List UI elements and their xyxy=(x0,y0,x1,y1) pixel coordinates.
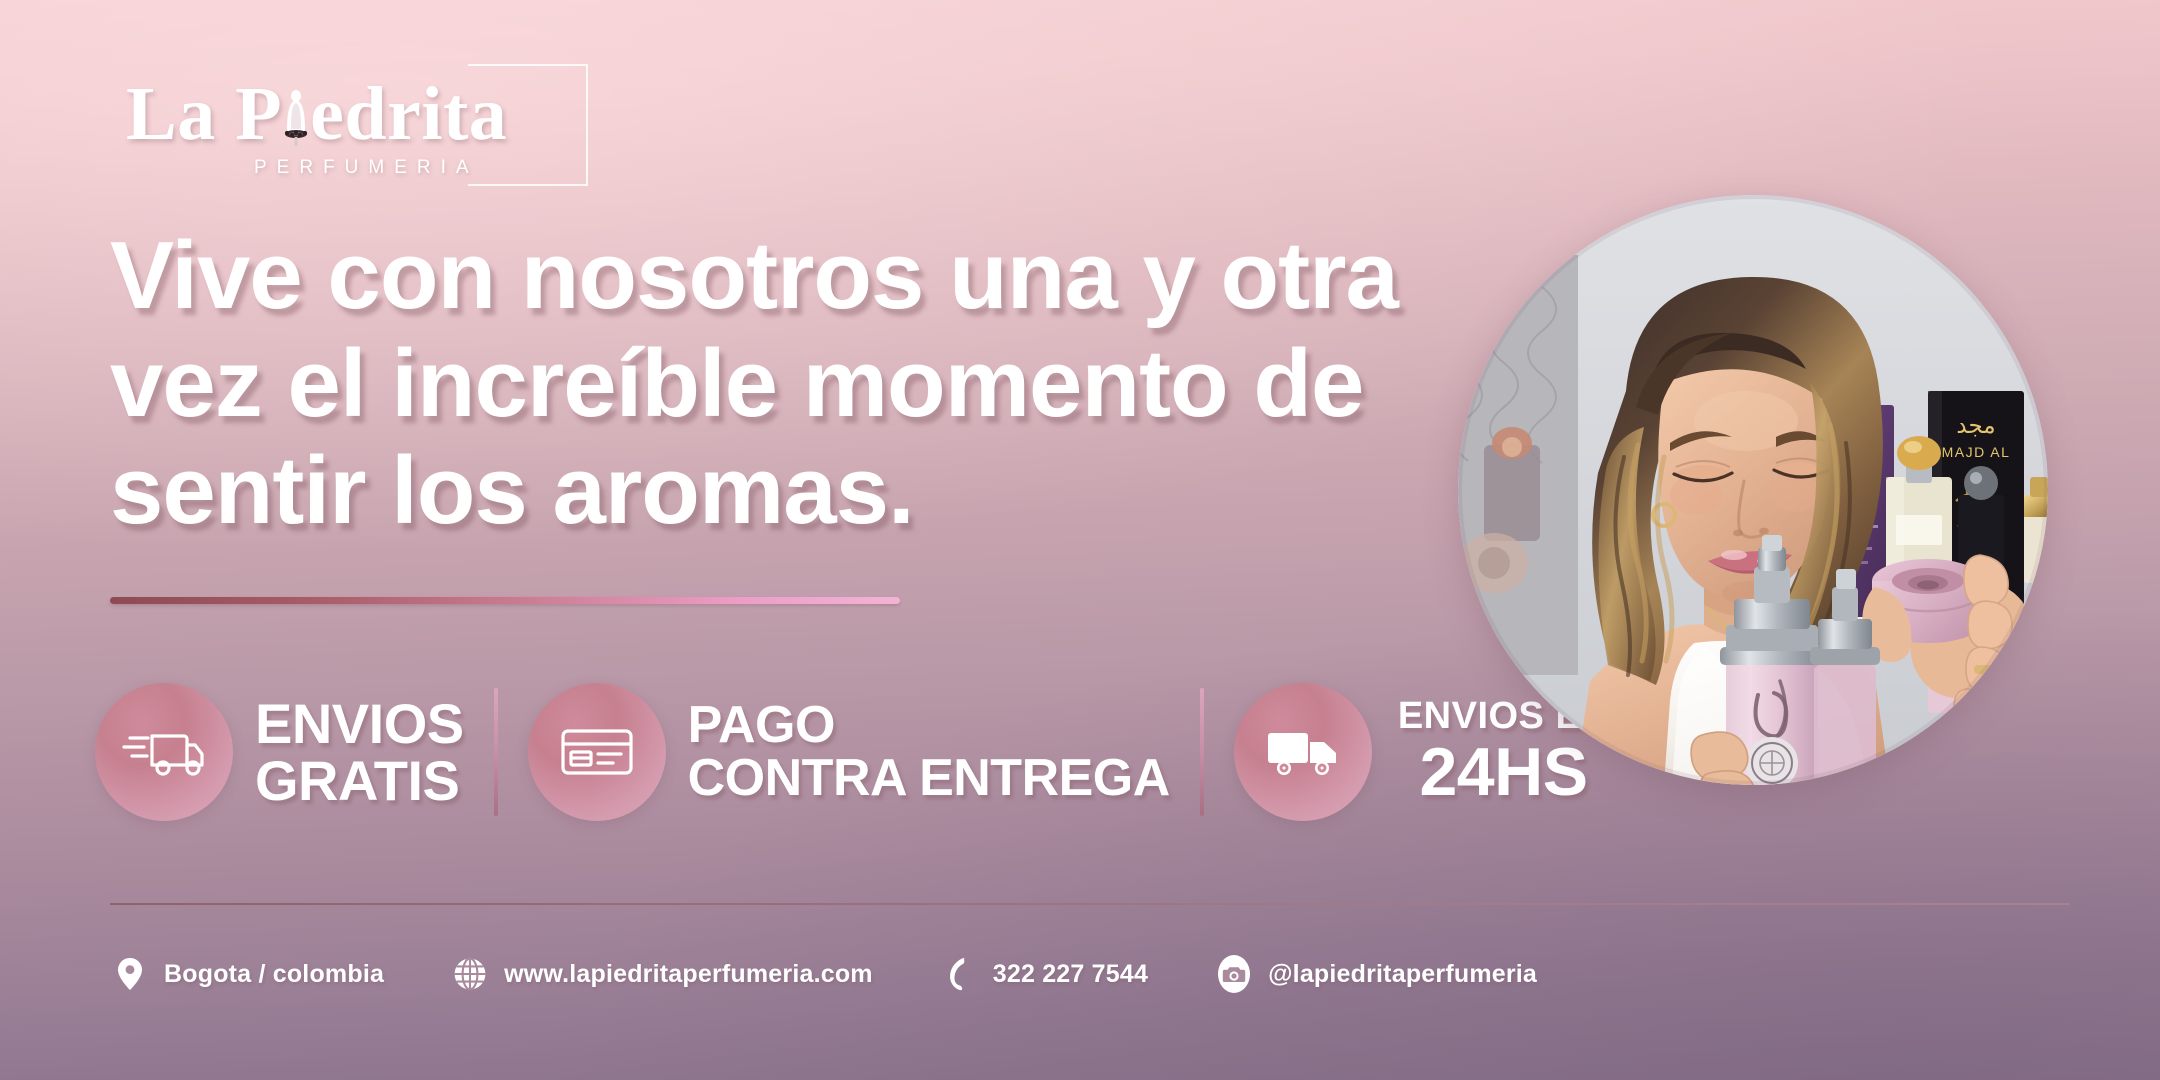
headline-line-1: Vive con nosotros una y otra xyxy=(110,222,1530,330)
benefit-line-2: CONTRA ENTREGA xyxy=(688,752,1170,805)
benefit-envios-gratis[interactable]: ENVIOS GRATIS xyxy=(95,672,464,832)
woman-smelling-perfume-photo: مجد MAJD AL xyxy=(1458,195,2048,785)
benefit-divider-2 xyxy=(1200,688,1204,816)
headline: Vive con nosotros una y otra vez el incr… xyxy=(110,222,1530,545)
benefit-line-1: PAGO xyxy=(688,699,1170,752)
brand-logo[interactable]: La Pedrita PERFUMERIA xyxy=(126,78,566,188)
promotional-banner: La Pedrita PERFUMERIA Vive con nosotros … xyxy=(0,0,2160,1080)
benefit-label-pago-contra-entrega: PAGO CONTRA ENTREGA xyxy=(688,699,1170,805)
contact-website-label: www.lapiedritaperfumeria.com xyxy=(504,960,873,989)
contact-phone[interactable]: 322 227 7544 xyxy=(939,954,1148,994)
benefit-line-2: GRATIS xyxy=(255,752,464,809)
contact-location[interactable]: Bogota / colombia xyxy=(110,954,384,994)
benefit-divider-1 xyxy=(494,688,498,816)
footer-divider xyxy=(110,903,2070,905)
headline-accent-rule xyxy=(110,597,900,604)
delivery-truck-icon xyxy=(1234,683,1372,821)
logo-word-part1: La P xyxy=(126,78,282,151)
location-pin-icon xyxy=(110,954,150,994)
contact-bar: Bogota / colombia www.lapiedritaperfumer… xyxy=(110,948,1603,1000)
contact-instagram[interactable]: @lapiedritaperfumeria xyxy=(1214,954,1537,994)
headline-line-3: sentir los aromas. xyxy=(110,437,1530,545)
logo-word-part2: edrita xyxy=(310,78,507,151)
benefit-pago-contra-entrega[interactable]: PAGO CONTRA ENTREGA xyxy=(528,672,1170,832)
svg-text:MAJD AL: MAJD AL xyxy=(1942,444,2011,460)
logo-wordmark: La Pedrita xyxy=(126,78,566,151)
headline-line-2: vez el increíble momento de xyxy=(110,330,1530,438)
svg-text:مجد: مجد xyxy=(1956,413,1995,439)
credit-card-icon xyxy=(528,683,666,821)
virgin-statue-icon xyxy=(283,87,309,149)
fast-truck-icon xyxy=(95,683,233,821)
benefit-label-envios-gratis: ENVIOS GRATIS xyxy=(255,695,464,809)
benefit-line-1: ENVIOS xyxy=(255,695,464,752)
contact-website[interactable]: www.lapiedritaperfumeria.com xyxy=(450,954,873,994)
instagram-icon xyxy=(1214,954,1254,994)
contact-location-label: Bogota / colombia xyxy=(164,960,384,989)
benefits-row: ENVIOS GRATIS PAGO xyxy=(95,672,1609,832)
globe-icon xyxy=(450,954,490,994)
phone-icon xyxy=(939,954,979,994)
contact-phone-label: 322 227 7544 xyxy=(993,960,1148,989)
contact-instagram-label: @lapiedritaperfumeria xyxy=(1268,960,1537,989)
